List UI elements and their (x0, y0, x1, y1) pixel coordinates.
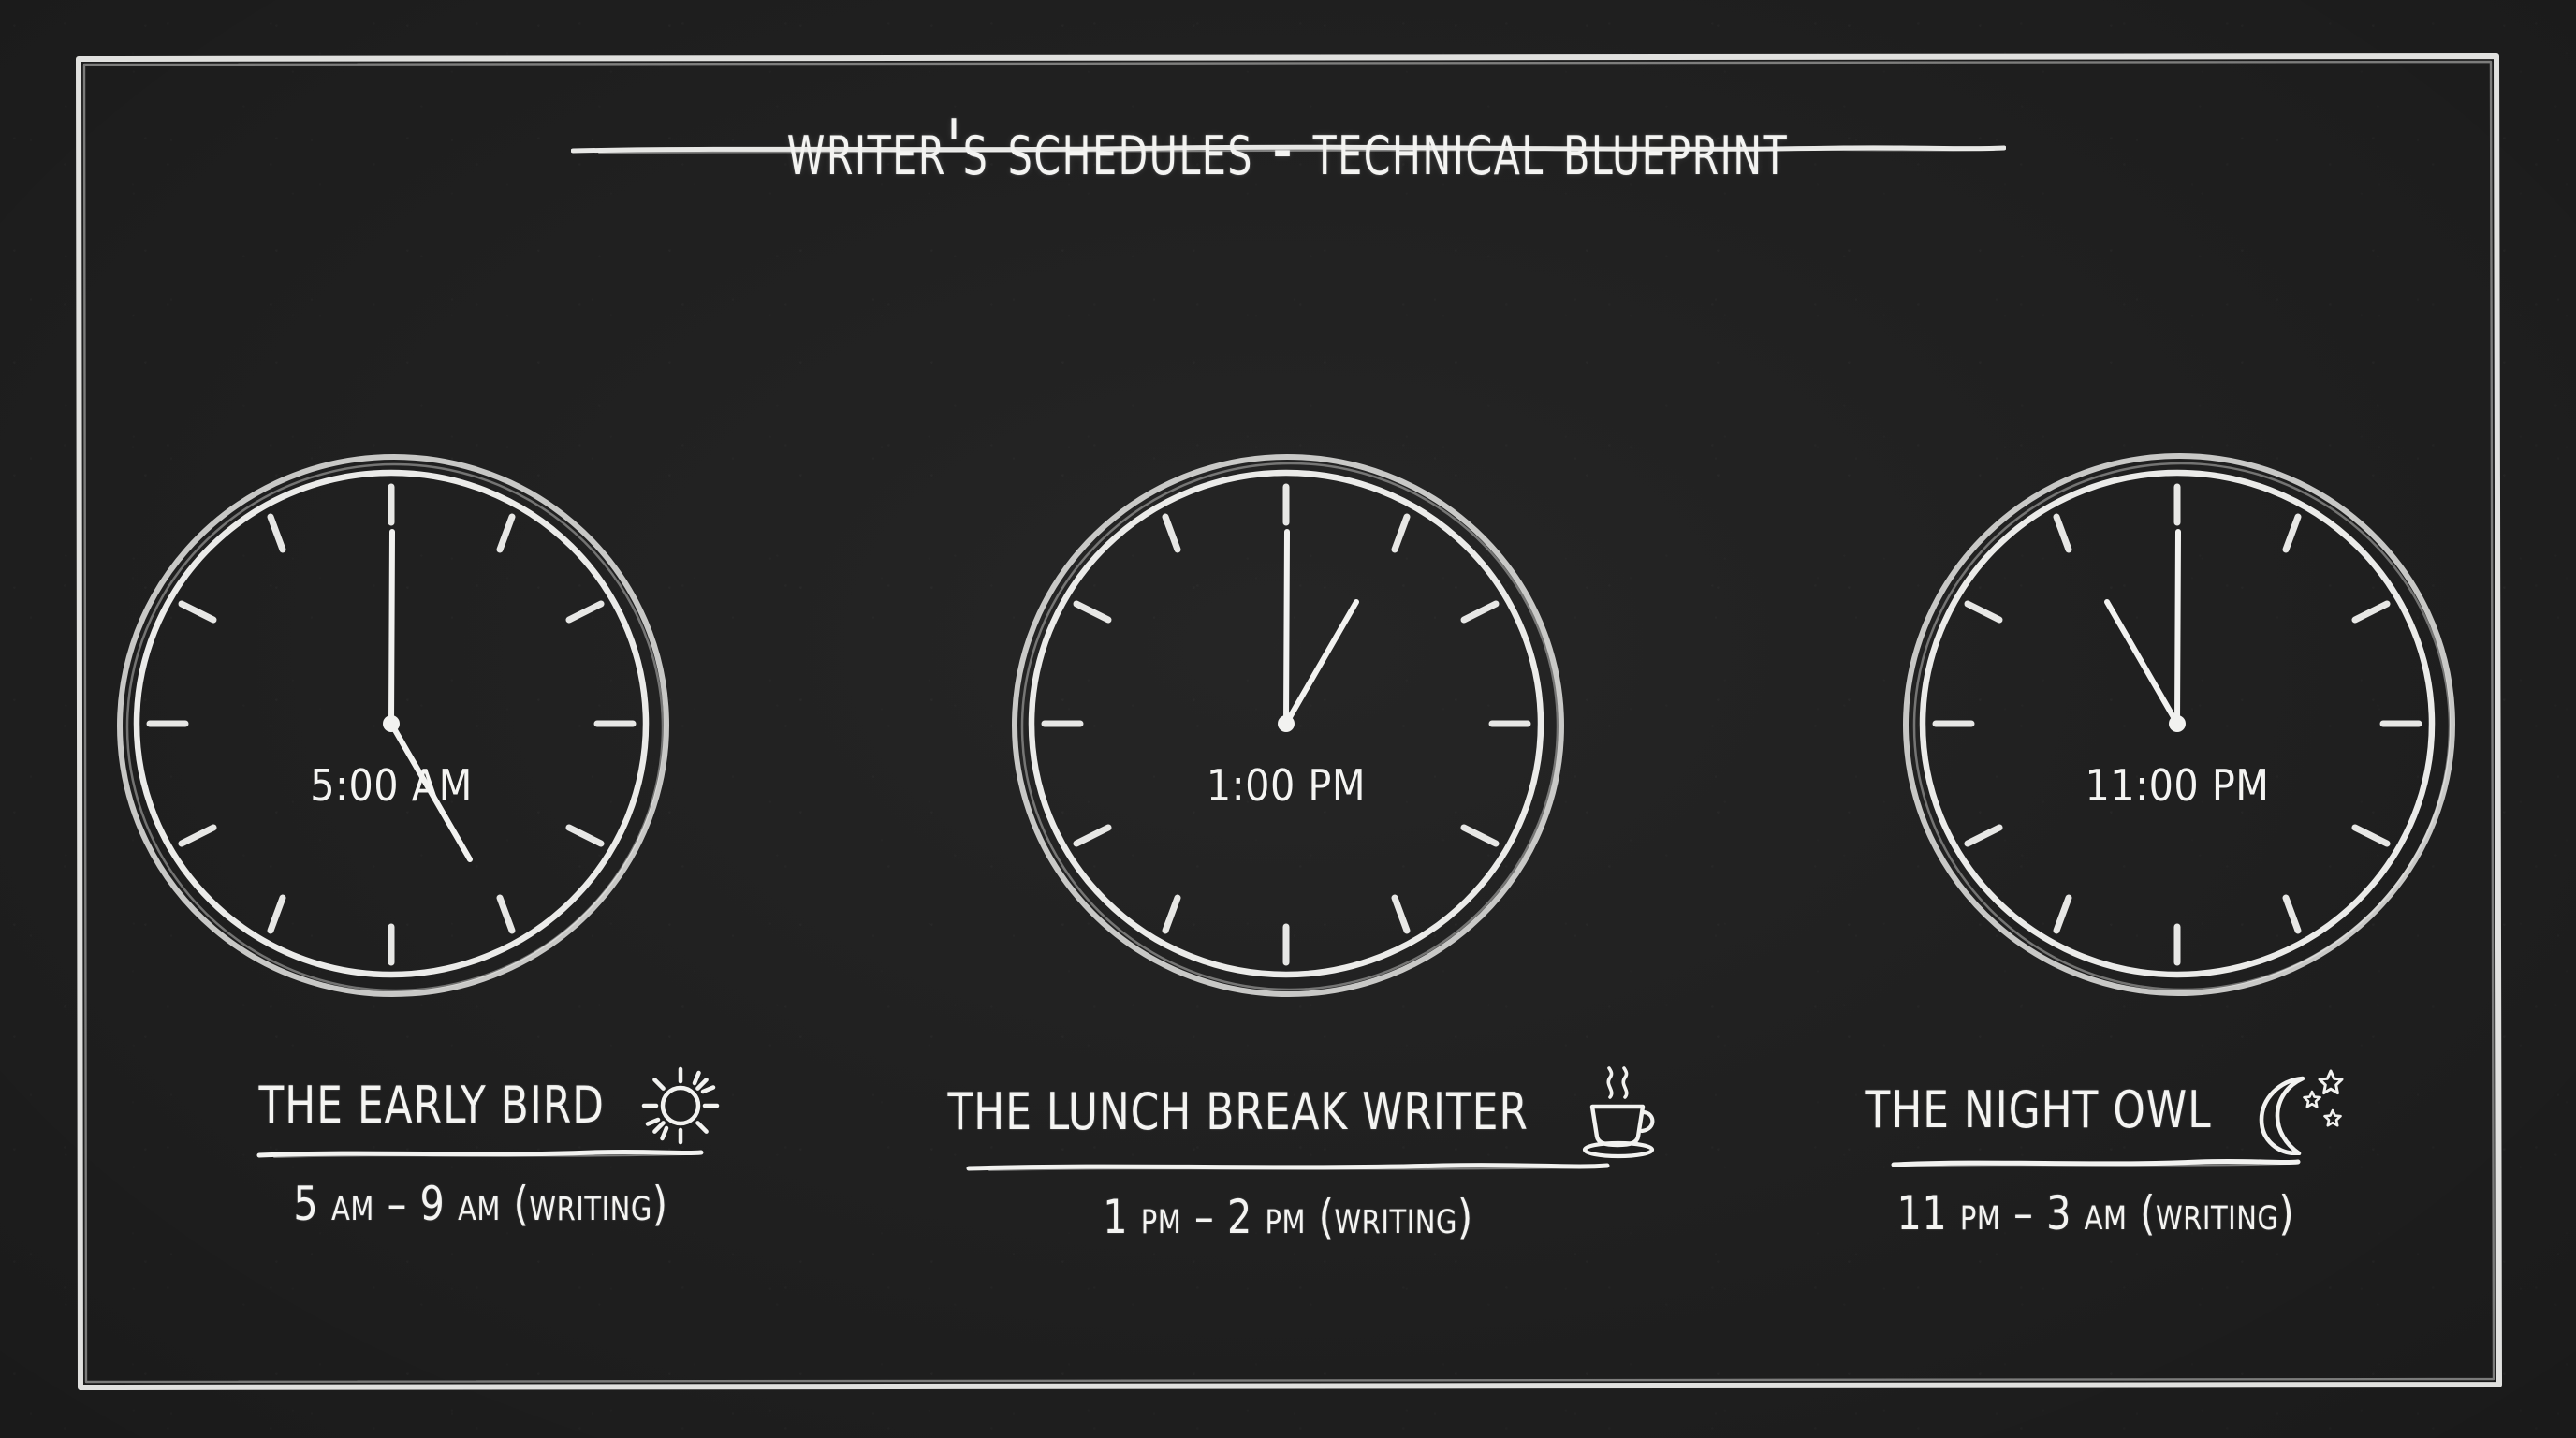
persona-card-early-bird: THE EARLY BIRD (77, 1065, 884, 1290)
clock-time-label: 11:00 PM (2085, 760, 2269, 811)
clock-minute-hand (1286, 532, 1287, 724)
clock-card-early-bird: 5:00 AM (77, 412, 713, 1067)
sun-icon (640, 1065, 721, 1146)
clock-center-pin (2169, 715, 2186, 732)
persona-label-row: THE EARLY BIRD (77, 1065, 2499, 1290)
clock-card-night-owl: 11:00 PM (1863, 412, 2499, 1067)
chalkboard-canvas: Writer's Schedules - Technical Blueprint (0, 0, 2576, 1438)
title-underline (571, 142, 2006, 155)
clock-face-early-bird: 5:00 AM (95, 412, 695, 1030)
clock-face-lunch-break-writer: 1:00 PM (988, 412, 1588, 1030)
clock-time-label: 5:00 AM (310, 760, 473, 811)
persona-name-underline (256, 1148, 705, 1159)
persona-name-lunch-break-writer: THE LUNCH BREAK WRITER (948, 1085, 1529, 1139)
persona-name-line: THE NIGHT OWL (1846, 1065, 2345, 1155)
persona-name-line: THE EARLY BIRD (240, 1065, 722, 1146)
clock-time-label: 1:00 PM (1207, 760, 1366, 811)
clock-hour-hand (1286, 602, 1356, 724)
persona-name-underline (1890, 1157, 2302, 1168)
clock-minute-hand (2177, 532, 2178, 724)
persona-name-underline (965, 1161, 1611, 1172)
clock-row: 5:00 AM (77, 412, 2499, 1067)
persona-card-lunch-break-writer: THE LUNCH BREAK WRITER 1 PM – 2 PM (WR (885, 1065, 1691, 1290)
clock-center-pin (383, 715, 400, 732)
persona-card-night-owl: THE NIGHT OWL 11 PM – 3 AM (WRITING) (1692, 1065, 2499, 1290)
coffee-cup-icon (1578, 1065, 1661, 1159)
clock-face-night-owl: 11:00 PM (1881, 412, 2481, 1030)
persona-name-night-owl: THE NIGHT OWL (1866, 1083, 2212, 1137)
moon-stars-icon (2248, 1065, 2346, 1155)
persona-hours-lunch-break-writer: 1 PM – 2 PM (WRITING) (1103, 1193, 1473, 1242)
persona-name-early-bird: THE EARLY BIRD (258, 1078, 605, 1133)
clock-minute-hand (391, 532, 392, 724)
persona-name-line: THE LUNCH BREAK WRITER (915, 1065, 1660, 1159)
persona-hours-early-bird: 5 AM – 9 AM (WRITING) (293, 1180, 667, 1229)
clock-hour-hand (2107, 602, 2177, 724)
clock-card-lunch-break-writer: 1:00 PM (970, 412, 1606, 1067)
clock-center-pin (1278, 715, 1295, 732)
persona-hours-night-owl: 11 PM – 3 AM (WRITING) (1897, 1189, 2295, 1239)
